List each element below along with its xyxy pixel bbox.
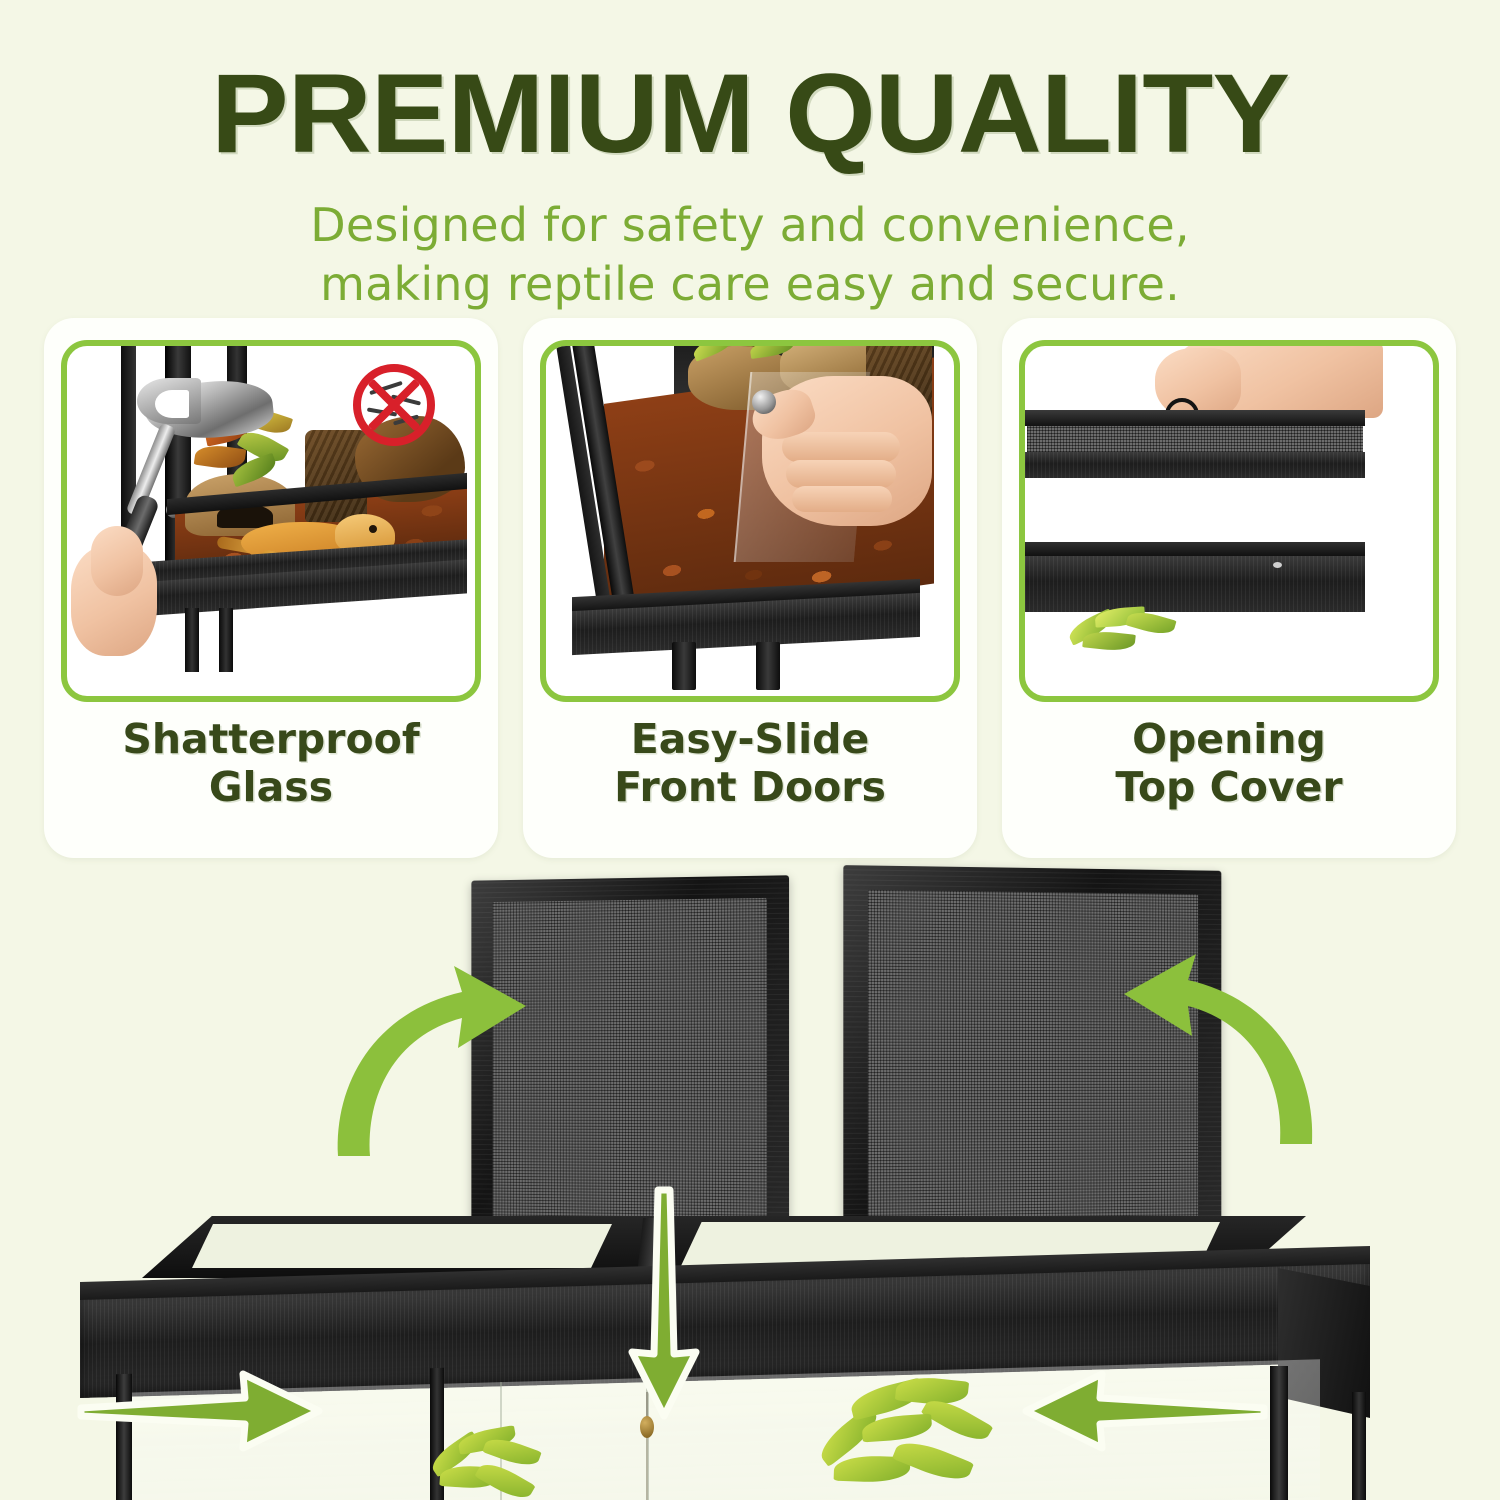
feature-label-line-2: Top Cover [1002, 764, 1456, 812]
terrarium-body [80, 1216, 1370, 1500]
subtitle-line-2: making reptile care easy and secure. [0, 255, 1500, 314]
hero-product-image [0, 856, 1500, 1500]
lid-top-edge [1025, 410, 1365, 426]
feature-label-line-2: Front Doors [523, 764, 977, 812]
feature-label-line-1: Easy-Slide [523, 716, 977, 764]
stand-post-rear-right [1352, 1392, 1366, 1500]
latch-wire-lower [646, 1438, 648, 1500]
plant-decor [1067, 604, 1197, 660]
arrow-open-right-lid [1110, 944, 1320, 1154]
top-opening-left [192, 1224, 612, 1268]
page-subtitle: Designed for safety and convenience, mak… [0, 196, 1500, 314]
stand-leg-left [672, 642, 696, 690]
page-title: PREMIUM QUALITY [0, 58, 1500, 170]
opening-top-cover-photo [1019, 340, 1439, 702]
stand-leg-right [756, 642, 780, 690]
screw-dot [1273, 562, 1282, 568]
stand-leg-right [219, 608, 233, 672]
mesh-screen [1027, 426, 1363, 452]
plant-decor-left [418, 1404, 558, 1500]
no-crack-prohibition-icon [353, 364, 435, 446]
arrow-door-down [618, 1184, 710, 1424]
feature-card-label: Shatterproof Glass [44, 716, 498, 811]
stand-leg-left [185, 608, 199, 672]
tank-rail [1025, 542, 1365, 556]
open-gap [1025, 478, 1365, 548]
shatterproof-glass-photo [61, 340, 481, 702]
feature-label-line-1: Shatterproof [44, 716, 498, 764]
infographic-page: PREMIUM QUALITY Designed for safety and … [0, 0, 1500, 1500]
door-knob-icon[interactable] [752, 390, 776, 414]
feature-card-opening-top-cover[interactable]: Opening Top Cover [1002, 318, 1456, 858]
hammer-claw-slot [155, 390, 189, 418]
easy-slide-doors-photo [540, 340, 960, 702]
plant-decor [692, 340, 802, 376]
plant-decor-right [810, 1364, 1000, 1500]
feature-label-line-2: Glass [44, 764, 498, 812]
arrow-slide-door-left [1020, 1368, 1270, 1454]
feature-card-list: Shatterproof Glass [44, 318, 1456, 858]
subtitle-line-1: Designed for safety and convenience, [0, 196, 1500, 255]
feature-card-label: Easy-Slide Front Doors [523, 716, 977, 811]
stand-post-right [1270, 1366, 1288, 1500]
feature-card-easy-slide-front-doors[interactable]: Easy-Slide Front Doors [523, 318, 977, 858]
lid-bottom-rail [1025, 452, 1365, 478]
arrow-slide-door-right [75, 1368, 325, 1454]
feature-card-shatterproof-glass[interactable]: Shatterproof Glass [44, 318, 498, 858]
hand-fingers [91, 526, 143, 596]
feature-label-line-1: Opening [1002, 716, 1456, 764]
arrow-open-left-lid [330, 956, 540, 1166]
feature-card-label: Opening Top Cover [1002, 716, 1456, 811]
